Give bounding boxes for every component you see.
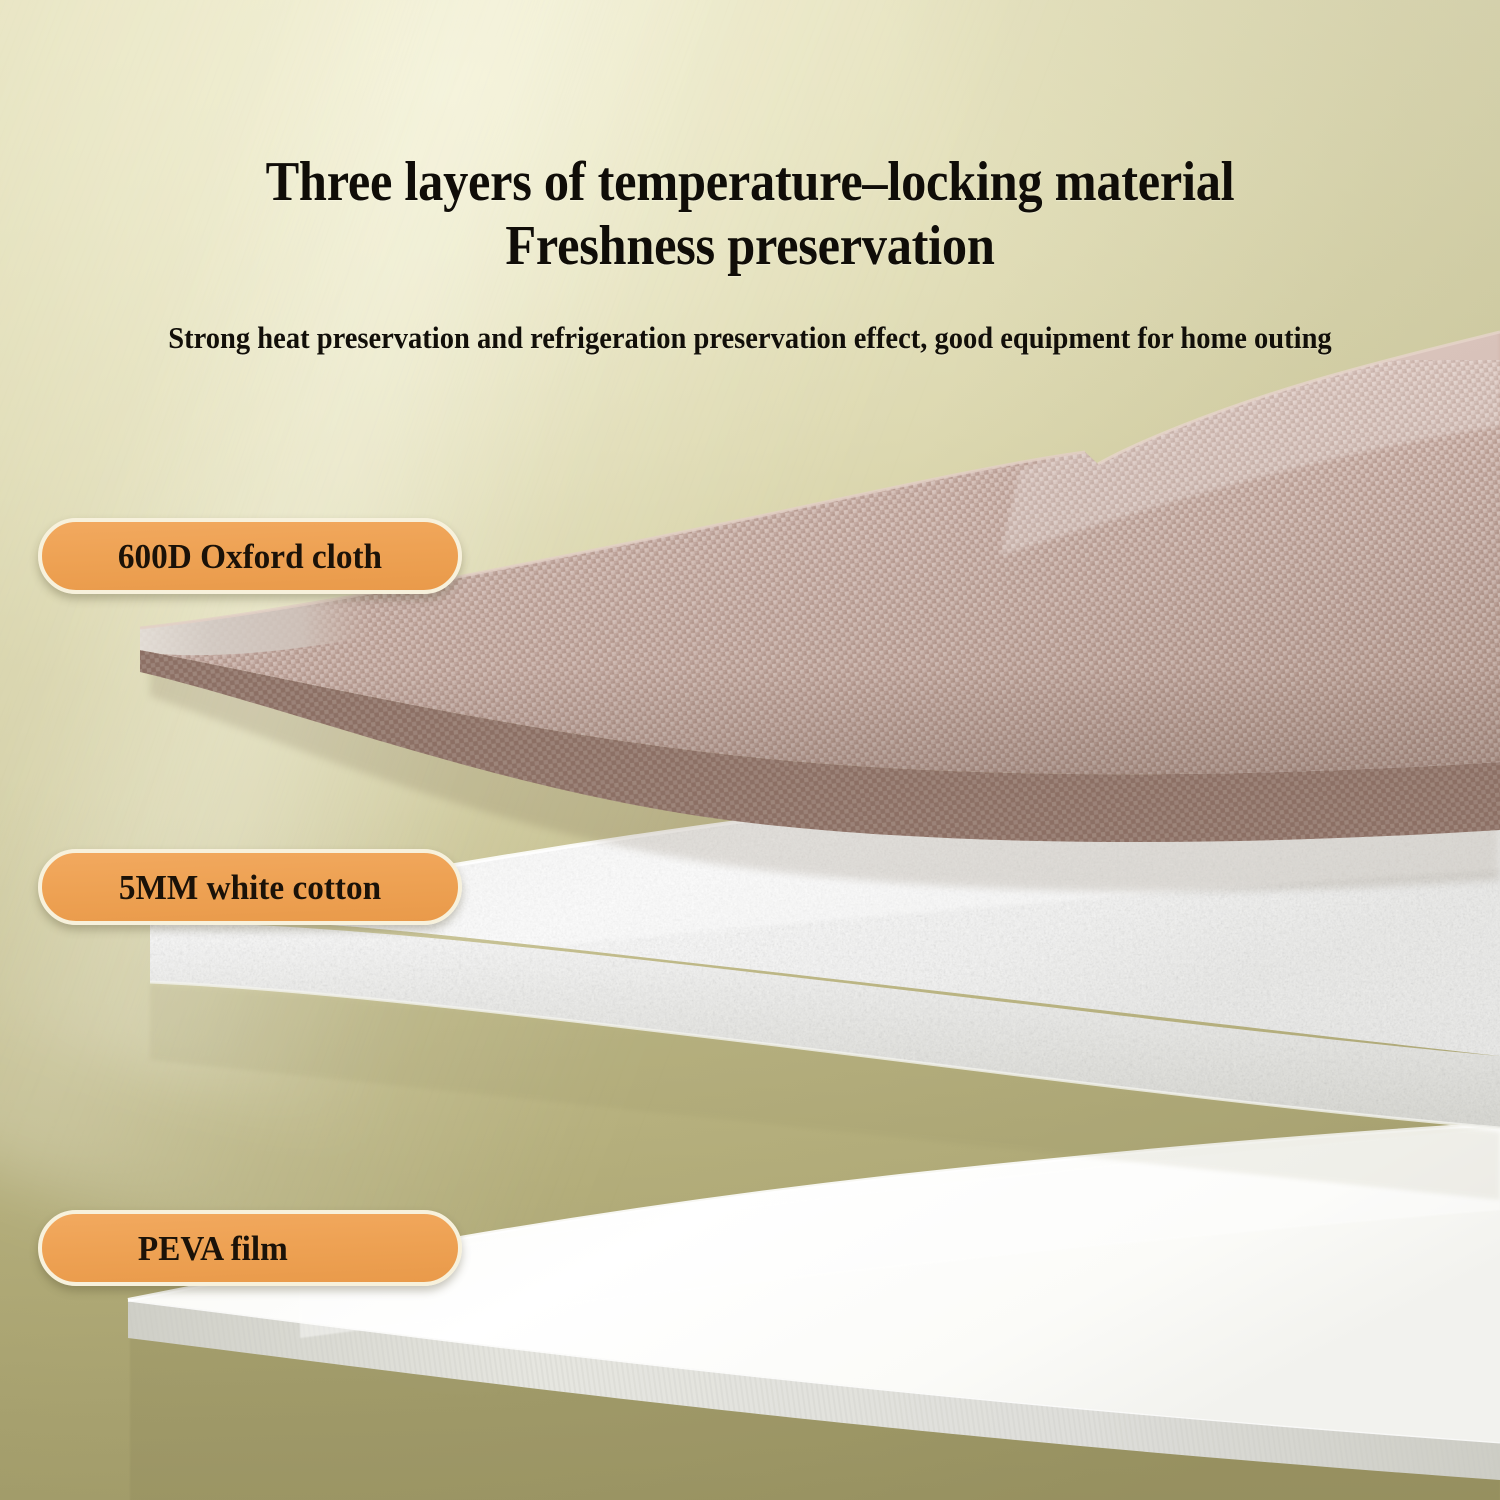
subheadline: Strong heat preservation and refrigerati… — [60, 318, 1440, 358]
label-pill-peva-film: PEVA film — [38, 1210, 462, 1286]
label-pill-white-cotton: 5MM white cotton — [38, 849, 462, 925]
label-pill-peva-film-text: PEVA film — [52, 1231, 447, 1266]
label-pill-oxford-cloth-text: 600D Oxford cloth — [52, 539, 447, 574]
layer-oxford-cloth — [0, 360, 1500, 920]
headline-line-2: Freshness preservation — [75, 214, 1425, 278]
label-pill-white-cotton-text: 5MM white cotton — [52, 870, 447, 905]
headline-block: Three layers of temperature–locking mate… — [0, 150, 1500, 278]
label-pill-oxford-cloth: 600D Oxford cloth — [38, 518, 462, 594]
infographic-canvas: Three layers of temperature–locking mate… — [0, 0, 1500, 1500]
headline-line-1: Three layers of temperature–locking mate… — [75, 150, 1425, 214]
